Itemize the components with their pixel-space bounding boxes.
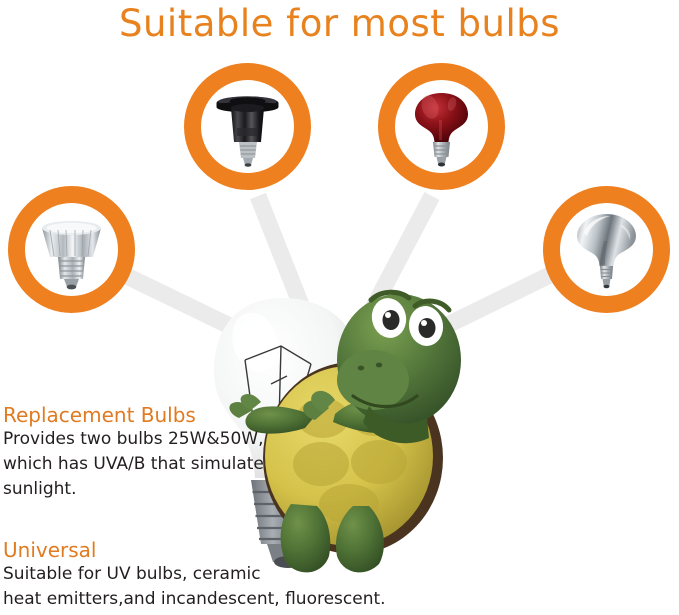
feature-body-line: heat emitters,and incandescent, fluoresc… — [3, 587, 386, 612]
feature-body-line: Provides two bulbs 25W&50W, — [3, 427, 264, 452]
red-infrared-bulb-icon — [395, 80, 488, 173]
feature-heading: Universal — [3, 538, 386, 562]
feature-heading: Replacement Bulbs — [3, 403, 264, 427]
feature-body-line: Suitable for UV bulbs, ceramic — [3, 562, 386, 587]
feature-body-line: sunlight. — [3, 477, 264, 502]
product-infographic: Suitable for most bulbs — [0, 0, 679, 615]
feature-universal: Universal Suitable for UV bulbs, ceramic… — [3, 538, 386, 612]
chrome-flood-bulb-icon — [560, 203, 653, 296]
feature-body-line: which has UVA/B that simulate — [3, 452, 264, 477]
ceramic-heat-emitter-icon — [201, 80, 294, 173]
halogen-reflector-bulb-icon — [25, 203, 118, 296]
bulb-circle-halogen-spot-bulb — [8, 186, 135, 313]
bulb-circle-ceramic-heat-emitter — [184, 63, 311, 190]
feature-replacement-bulbs: Replacement Bulbs Provides two bulbs 25W… — [3, 403, 264, 502]
bulb-circle-infrared-heat-lamp — [378, 63, 505, 190]
bulb-circle-reflector-flood-bulb — [543, 186, 670, 313]
feature-body: Suitable for UV bulbs, ceramic heat emit… — [3, 562, 386, 612]
feature-body: Provides two bulbs 25W&50W, which has UV… — [3, 427, 264, 502]
page-title: Suitable for most bulbs — [0, 2, 679, 45]
